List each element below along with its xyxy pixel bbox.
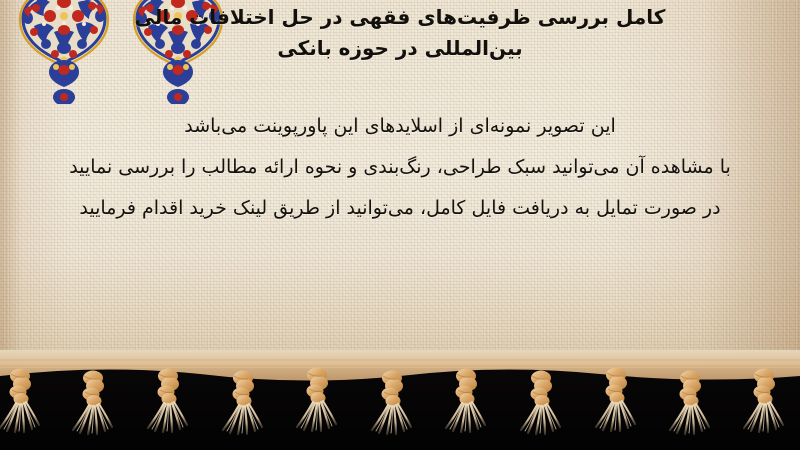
- bottom-black-band: [0, 368, 800, 450]
- slide-title: کامل بررسی ظرفیت‌های فقهی در حل اختلافات…: [0, 2, 800, 64]
- slide-canvas: کامل بررسی ظرفیت‌های فقهی در حل اختلافات…: [0, 0, 800, 450]
- body-line-1: این تصویر نمونه‌ای از اسلایدهای این پاور…: [0, 106, 800, 147]
- slide-body: این تصویر نمونه‌ای از اسلایدهای این پاور…: [0, 106, 800, 229]
- title-line-2: بین‌المللی در حوزه بانکی: [0, 33, 800, 64]
- body-line-3: در صورت تمایل به دریافت فایل کامل، می‌تو…: [0, 188, 800, 229]
- body-line-2: با مشاهده آن می‌توانید سبک طراحی، رنگ‌بن…: [0, 147, 800, 188]
- title-line-1: کامل بررسی ظرفیت‌های فقهی در حل اختلافات…: [0, 2, 800, 33]
